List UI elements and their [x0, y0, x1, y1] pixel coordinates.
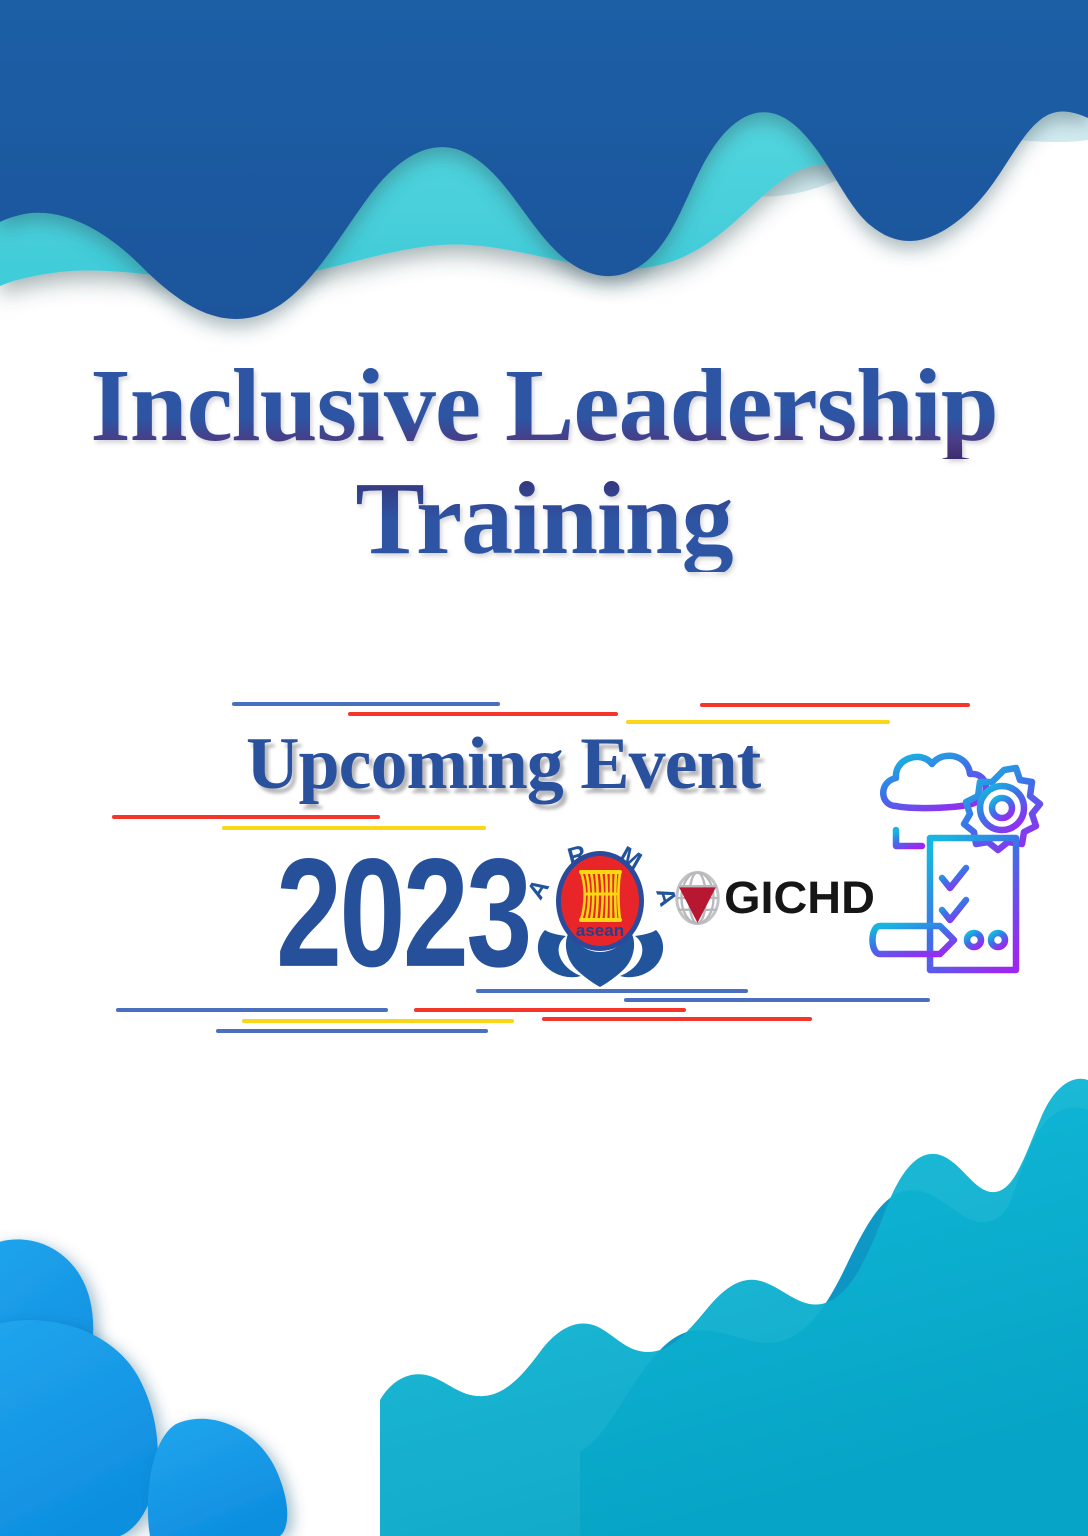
rule-3 [348, 712, 618, 716]
wave-top-blue [0, 0, 1088, 319]
blob-left-top [0, 1239, 93, 1440]
title-line-2: Training [0, 465, 1088, 572]
rule-1 [232, 702, 500, 706]
gichd-logo: GICHD [672, 848, 872, 948]
rule-12 [242, 1019, 514, 1023]
rule-10 [414, 1008, 686, 1012]
wave-top-teal [0, 0, 1088, 286]
training-checklist-icon [866, 738, 1046, 988]
rule-5 [112, 815, 380, 819]
poster-title: Inclusive Leadership Training [0, 352, 1088, 572]
gichd-globe-icon [672, 848, 723, 948]
poster-canvas: Inclusive Leadership Training Upcoming E… [0, 0, 1088, 1536]
wave-top-pale [0, 0, 1088, 196]
armac-logo: A R M A C asean [523, 822, 678, 987]
asean-wordmark: asean [576, 921, 624, 940]
blob-left-large [0, 1320, 158, 1536]
title-line-1: Inclusive Leadership [0, 352, 1088, 459]
wave-bottom-teal-light [380, 1079, 1088, 1536]
rule-2 [700, 703, 970, 707]
gichd-wordmark: GICHD [724, 872, 875, 924]
upcoming-event-heading: Upcoming Event [246, 727, 760, 801]
rule-11 [542, 1017, 812, 1021]
wave-bottom-teal-dark [580, 1107, 1088, 1536]
event-year: 2023 [276, 836, 530, 991]
rule-13 [216, 1029, 488, 1033]
blob-left-small [148, 1419, 287, 1536]
rule-8 [624, 998, 930, 1002]
rule-9 [116, 1008, 388, 1012]
